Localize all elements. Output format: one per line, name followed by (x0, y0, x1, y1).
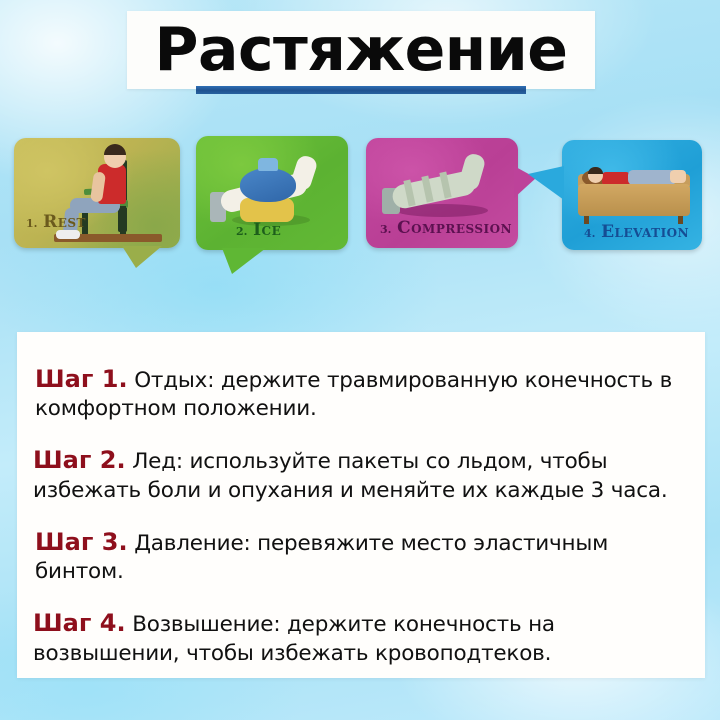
step-1-text: Отдых: держите травмированную конечность… (35, 368, 672, 422)
card-rest-word: Rest (43, 212, 86, 232)
step-2-text: Лед: используйте пакеты со льдом, чтобы … (33, 449, 667, 503)
card-elevation-number: 4. (584, 227, 595, 240)
steps-list: Шаг 1. Отдых: держите травмированную кон… (35, 342, 695, 670)
page-title: Растяжение (155, 20, 568, 80)
card-ice-label: 2. Ice (236, 220, 281, 240)
title-banner: Растяжение (127, 11, 595, 89)
step-item-1: Шаг 1. Отдых: держите травмированную кон… (35, 364, 695, 424)
card-rest-label: 1. Rest (26, 212, 86, 232)
card-ice: 2. Ice (196, 136, 348, 250)
card-ice-number: 2. (236, 225, 247, 238)
card-compression: 3. Compression (366, 138, 518, 248)
card-compression-inner: 3. Compression (366, 138, 518, 248)
card-compression-label: 3. Compression (380, 218, 512, 238)
card-ice-inner: 2. Ice (196, 136, 348, 250)
card-rest-tail (122, 246, 162, 268)
step-4-label: Шаг 4. (33, 609, 126, 637)
card-compression-word: Compression (397, 218, 512, 238)
card-rest-number: 1. (26, 217, 37, 230)
step-3-label: Шаг 3. (35, 528, 128, 556)
card-rest-inner: 1. Rest (14, 138, 180, 248)
poster-root: Растяжение (0, 0, 720, 720)
card-elevation: 4. Elevation (562, 140, 702, 250)
card-elevation-label: 4. Elevation (584, 222, 689, 242)
steps-panel: Шаг 1. Отдых: держите травмированную кон… (17, 332, 705, 678)
step-item-4: Шаг 4. Возвышение: держите конечность на… (33, 608, 695, 668)
step-2-label: Шаг 2. (33, 446, 126, 474)
card-compression-number: 3. (380, 223, 391, 236)
card-elevation-word: Elevation (601, 222, 689, 242)
rice-cards-row: 1. Rest 2. Ice (0, 132, 720, 262)
title-underline-bar (196, 86, 526, 94)
card-rest: 1. Rest (14, 138, 180, 248)
step-1-label: Шаг 1. (35, 365, 128, 393)
step-item-3: Шаг 3. Давление: перевяжите место эласти… (35, 527, 695, 587)
card-ice-word: Ice (253, 220, 281, 240)
card-ice-tail (222, 248, 266, 274)
step-item-2: Шаг 2. Лед: используйте пакеты со льдом,… (33, 445, 695, 505)
card-elevation-tail (528, 166, 564, 200)
card-elevation-inner: 4. Elevation (562, 140, 702, 250)
